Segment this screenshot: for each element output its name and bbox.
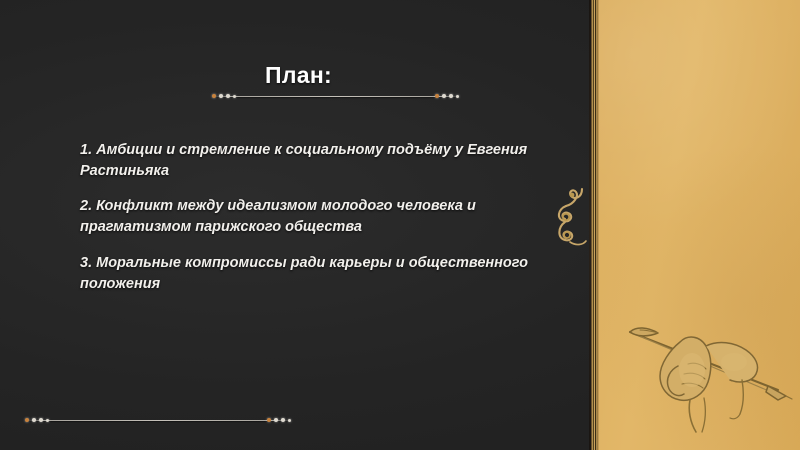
divider-line — [28, 420, 290, 421]
divider-dots-left — [212, 94, 238, 99]
divider-line — [215, 96, 458, 97]
plan-list: 1. Амбиции и стремление к социальному по… — [80, 140, 564, 295]
divider-dots-right — [435, 94, 461, 99]
slide-canvas: План: 1. Амбиции и стремление к социальн… — [0, 0, 800, 450]
edge-stripe — [597, 0, 599, 450]
divider-dots-right — [267, 418, 293, 423]
list-item: 2. Конфликт между идеализмом молодого че… — [80, 196, 564, 238]
list-item: 1. Амбиции и стремление к социальному по… — [80, 140, 564, 182]
bottom-divider — [28, 416, 290, 425]
page-title: План: — [0, 62, 597, 89]
hand-holding-quill-icon — [618, 312, 800, 434]
title-divider — [215, 92, 458, 101]
list-item: 3. Моральные компромиссы ради карьеры и … — [80, 253, 564, 295]
divider-dots-left — [25, 418, 51, 423]
